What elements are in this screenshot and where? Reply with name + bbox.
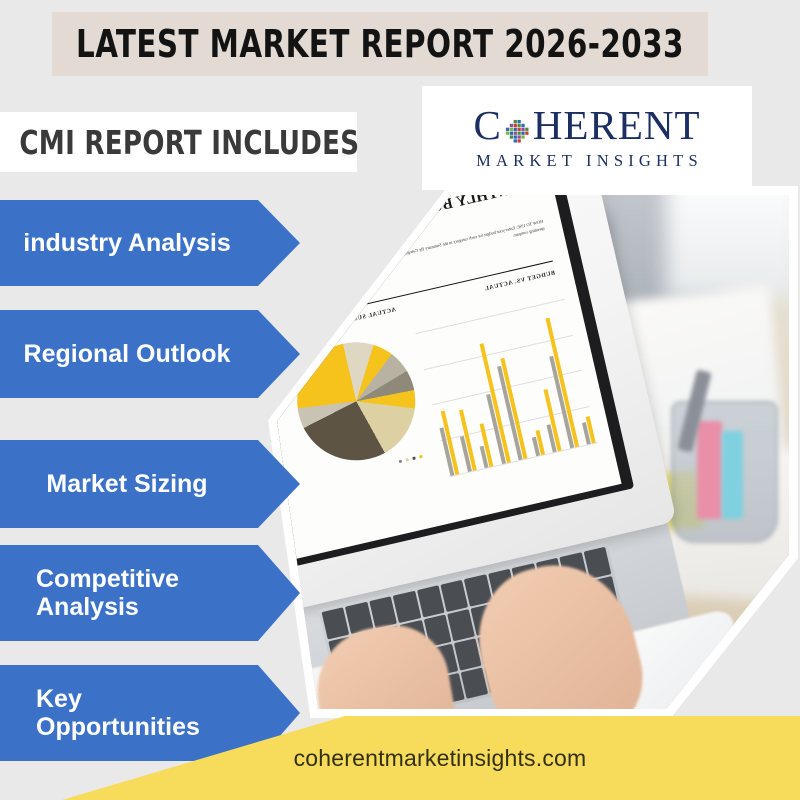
dashboard-title: MONTHLY BUDGET: [387, 195, 537, 227]
pen-pink: [697, 421, 723, 519]
arrow-banner-regional-outlook[interactable]: Regional Outlook: [0, 310, 300, 398]
website-link[interactable]: coherentmarketinsights.com: [0, 716, 800, 800]
hexagon-image: MONTHLY BUDGET HOW TO USE: Enter your bu…: [277, 195, 789, 709]
desk-scene: MONTHLY BUDGET HOW TO USE: Enter your bu…: [277, 195, 789, 709]
arrow-banner-industry-analysis[interactable]: industry Analysis: [0, 200, 300, 286]
logo-subtitle: MARKET INSIGHTS: [471, 151, 703, 171]
pie-chart: [286, 330, 428, 472]
arrow-label: industry Analysis: [0, 229, 300, 257]
section-label: CMI REPORT INCLUDES: [0, 112, 314, 172]
logo-wordmark-rest: HERENT: [533, 105, 701, 146]
laptop-screen: MONTHLY BUDGET HOW TO USE: Enter your bu…: [277, 195, 634, 571]
pen-blue: [722, 431, 742, 518]
budget-dashboard: MONTHLY BUDGET HOW TO USE: Enter your bu…: [277, 195, 622, 562]
globe-icon: [503, 113, 532, 142]
arrow-banner-competitive-analysis[interactable]: Competitive Analysis: [0, 545, 300, 641]
arrow-label: Competitive Analysis: [0, 565, 300, 621]
arrow-label: Market Sizing: [0, 470, 300, 498]
logo-card: C: [422, 86, 752, 190]
logo-letter-c: C: [473, 105, 501, 146]
arrow-banner-market-sizing[interactable]: Market Sizing: [0, 440, 300, 528]
poster-root: LATEST MARKET REPORT 2026-2033 CMI REPOR…: [0, 0, 800, 800]
arrow-label: Regional Outlook: [0, 340, 300, 368]
pie-chart-title: ACTUAL SUMMARY: [331, 307, 397, 328]
bar-chart-columns: [416, 299, 598, 476]
logo-wordmark: C: [473, 105, 700, 146]
page-title: LATEST MARKET REPORT 2026-2033: [98, 12, 662, 76]
bar-chart: [416, 299, 598, 476]
desk-window-light: [666, 195, 789, 298]
hexagon-photo: MONTHLY BUDGET HOW TO USE: Enter your bu…: [268, 186, 798, 718]
dashboard-instructions: HOW TO USE: Enter your budget for each c…: [333, 219, 546, 280]
